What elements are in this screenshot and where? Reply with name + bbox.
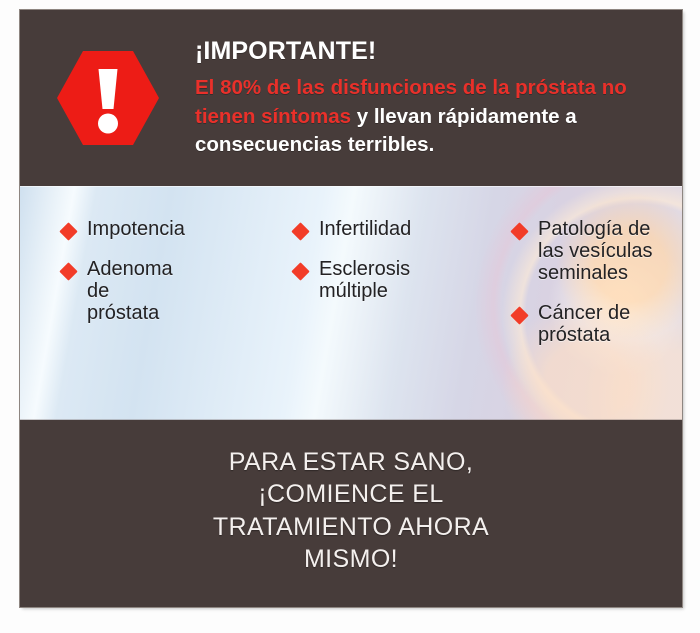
- banner-panel: ¡IMPORTANTE! El 80% de las disfunciones …: [20, 10, 682, 607]
- warning-headline: ¡IMPORTANTE!: [195, 38, 672, 64]
- list-item-label: Adenoma de próstata: [87, 258, 173, 324]
- list-item: Patología de las vesículas seminales: [513, 218, 682, 284]
- diamond-bullet-icon: [510, 306, 528, 324]
- diamond-bullet-icon: [59, 262, 77, 280]
- symptom-column-1: Impotencia Adenoma de próstata: [20, 186, 294, 342]
- list-item: Impotencia: [62, 218, 294, 240]
- banner-root: ¡IMPORTANTE! El 80% de las disfunciones …: [0, 0, 700, 633]
- warning-text-container: ¡IMPORTANTE! El 80% de las disfunciones …: [195, 36, 682, 160]
- symptom-column-2: Infertilidad Esclerosis múltiple: [294, 186, 509, 320]
- diamond-bullet-icon: [510, 222, 528, 240]
- symptom-column-3: Patología de las vesículas seminales Cán…: [509, 186, 682, 364]
- call-to-action-text: PARA ESTAR SANO, ¡COMIENCE EL TRATAMIENT…: [213, 446, 489, 582]
- diamond-bullet-icon: [59, 222, 77, 240]
- diamond-bullet-icon: [291, 262, 309, 280]
- list-item-label: Cáncer de próstata: [538, 302, 630, 346]
- warning-icon-container: [20, 43, 195, 153]
- list-item-label: Impotencia: [87, 218, 185, 240]
- warning-block: ¡IMPORTANTE! El 80% de las disfunciones …: [20, 10, 682, 186]
- list-item: Adenoma de próstata: [62, 258, 294, 324]
- list-item-label: Patología de las vesículas seminales: [538, 218, 653, 284]
- list-item-label: Infertilidad: [319, 218, 411, 240]
- warning-body: El 80% de las disfunciones de la próstat…: [195, 74, 672, 160]
- symptom-list-band: Impotencia Adenoma de próstata Infertili…: [20, 186, 682, 420]
- list-item-label: Esclerosis múltiple: [319, 258, 410, 302]
- warning-exclamation-hexagon-icon: [53, 43, 163, 153]
- call-to-action-block: PARA ESTAR SANO, ¡COMIENCE EL TRATAMIENT…: [20, 420, 682, 607]
- list-item: Infertilidad: [294, 218, 509, 240]
- diamond-bullet-icon: [291, 222, 309, 240]
- symptom-columns: Impotencia Adenoma de próstata Infertili…: [20, 186, 682, 420]
- list-item: Esclerosis múltiple: [294, 258, 509, 302]
- list-item: Cáncer de próstata: [513, 302, 682, 346]
